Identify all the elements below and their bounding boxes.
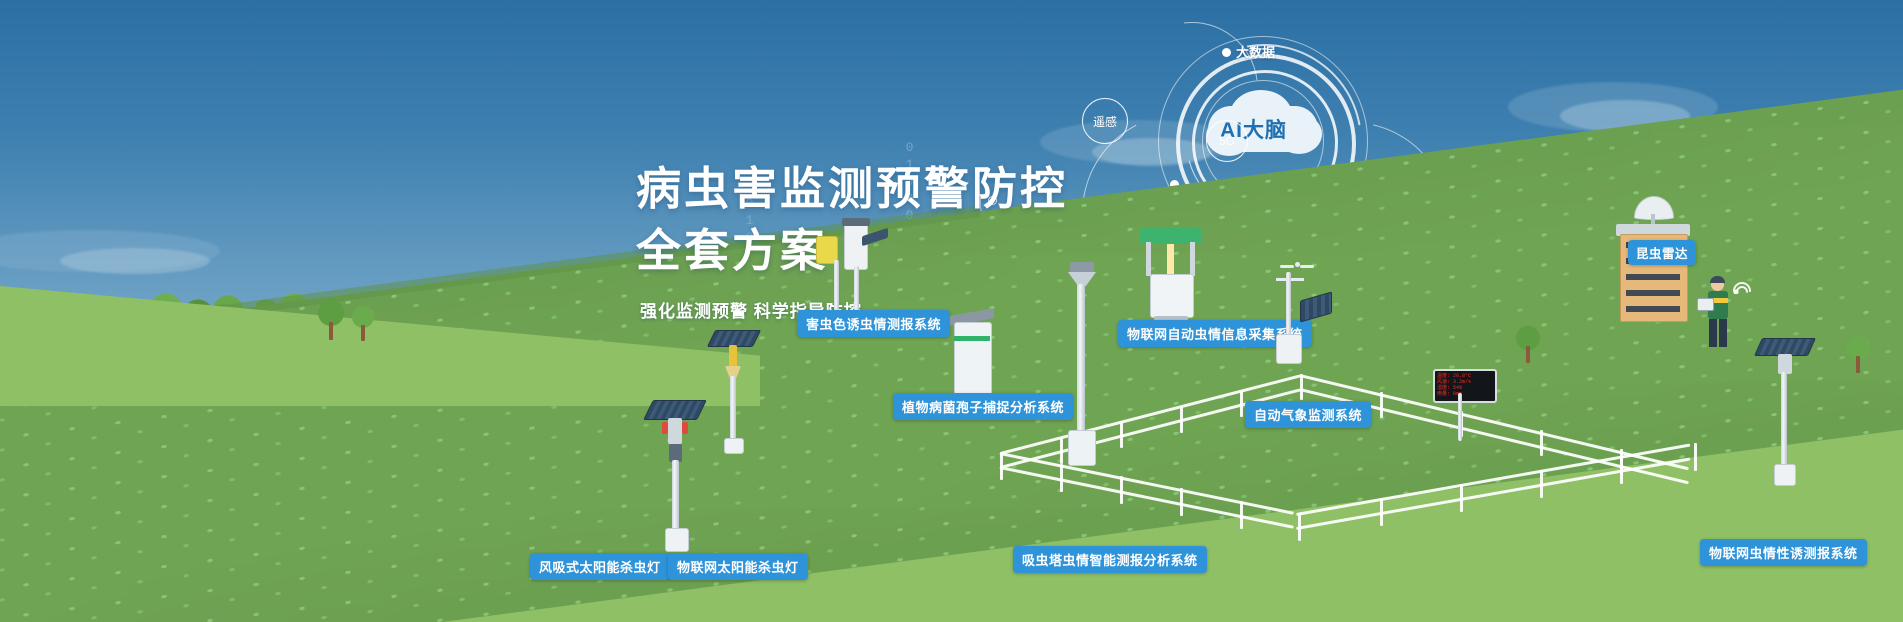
device-iot-solar-insect-lamp[interactable] <box>705 330 765 450</box>
weather-control-box <box>1276 334 1302 364</box>
lamp-tube <box>729 345 737 367</box>
decorative-tree <box>352 306 374 342</box>
device-accent-stripe <box>954 336 990 341</box>
big-data-dot-icon <box>1222 48 1231 57</box>
device-iot-pest-pheromone-lure-forecast-system[interactable] <box>1750 338 1820 498</box>
worker-tablet-icon <box>1697 298 1714 311</box>
solar-panel-icon <box>1300 291 1332 322</box>
node-5g[interactable]: 5G <box>1206 120 1248 162</box>
worker-cap <box>1710 276 1725 283</box>
wifi-signal-icon <box>1732 276 1754 294</box>
fence-post <box>1120 422 1123 448</box>
led-line: 雨量: 0mm <box>1437 391 1493 397</box>
lure-collection-base <box>1774 464 1796 486</box>
fence-post <box>1380 392 1383 418</box>
led-board-pole <box>1458 393 1462 441</box>
device-label-wind-suction-solar-insect-lamp[interactable]: 风吸式太阳能杀虫灯 <box>530 553 670 580</box>
lure-head <box>1778 354 1792 374</box>
node-remote-sensing[interactable]: 遥感 <box>1082 98 1128 144</box>
fence-post <box>1298 513 1301 541</box>
device-label-pest-color-lure-forecast-system[interactable]: 害虫色诱虫情测报系统 <box>797 310 950 337</box>
tree-trunk <box>329 322 333 340</box>
device-cabinet <box>954 322 992 400</box>
collector-frame-right <box>1190 242 1195 276</box>
fence-post <box>1460 484 1463 512</box>
tree-trunk <box>361 325 365 341</box>
fence-post <box>1180 407 1183 433</box>
collector-frame-left <box>1146 242 1151 276</box>
tree-trunk <box>1856 356 1860 373</box>
tower-pole <box>1077 284 1085 432</box>
lamp-collection-base <box>665 528 689 552</box>
device-label-insect-radar[interactable]: 昆虫雷达 <box>1628 240 1696 265</box>
led-display-board: 温度: 26.8°C 风速: 3.2m/s 湿度: 54% 雨量: 0mm <box>1433 369 1497 403</box>
fence-post <box>1620 449 1623 475</box>
node-5g-label: 5G <box>1219 134 1235 148</box>
lamp-pole <box>672 460 679 532</box>
field-worker-avatar <box>1697 278 1737 350</box>
worker-leg-left <box>1709 319 1717 347</box>
device-label-automatic-weather-monitoring-system[interactable]: 自动气象监测系统 <box>1245 401 1371 428</box>
cabinet-body <box>844 222 868 270</box>
decorative-tree <box>1846 336 1870 374</box>
fence-post <box>1380 498 1383 526</box>
device-automatic-weather-monitoring-system[interactable] <box>1262 262 1332 382</box>
fence-post <box>1120 476 1123 504</box>
collector-lamp <box>1167 244 1174 274</box>
fence-post <box>1540 470 1543 498</box>
fence-post <box>1000 452 1003 480</box>
solar-panel-icon <box>643 400 707 420</box>
device-label-iot-solar-insect-lamp[interactable]: 物联网太阳能杀虫灯 <box>668 553 808 580</box>
fence-post <box>1240 391 1243 417</box>
fence-post <box>1694 443 1697 471</box>
worker-leg-right <box>1719 319 1727 347</box>
hero-banner: 010001011010 0100101101 0101000101101 01… <box>0 0 1903 622</box>
device-pest-color-lure-forecast-system[interactable] <box>812 222 887 322</box>
lamp-head <box>668 418 682 444</box>
page-title-line1: 病虫害监测预警防控 <box>636 160 1068 218</box>
lamp-collection-base <box>724 438 744 454</box>
collector-body <box>1150 274 1194 318</box>
tree-trunk <box>1526 346 1530 363</box>
lamp-pole <box>730 376 736 442</box>
page-title-line2: 全套方案 <box>636 222 828 280</box>
device-label-iot-pest-pheromone-lure-forecast-system[interactable]: 物联网虫情性诱测报系统 <box>1700 539 1867 566</box>
decorative-tree <box>1516 326 1540 364</box>
decorative-tree <box>318 300 344 340</box>
fence-post <box>1180 488 1183 516</box>
lamp-light-right <box>682 422 688 434</box>
lure-pole <box>1781 372 1787 468</box>
anemometer-icon <box>1280 262 1314 272</box>
device-label-suction-tower-intelligent-forecast-analysis-system[interactable]: 吸虫塔虫情智能测报分析系统 <box>1013 546 1207 573</box>
device-label-plant-pathogen-spore-capture-analysis-system[interactable]: 植物病菌孢子捕捉分析系统 <box>893 393 1073 420</box>
node-big-data-label: 大数据 <box>1236 42 1275 61</box>
device-suction-tower-intelligent-forecast-analysis-system[interactable] <box>1060 262 1110 472</box>
device-wind-suction-solar-insect-lamp[interactable] <box>640 400 710 550</box>
cloud-shape <box>60 248 210 274</box>
cabinet-top <box>842 218 870 226</box>
lamp-light-left <box>662 422 668 434</box>
node-remote-sensing-label: 遥感 <box>1093 113 1117 130</box>
tower-control-box <box>1068 430 1096 466</box>
fence-post <box>1240 501 1243 529</box>
fence-post <box>1540 430 1543 456</box>
